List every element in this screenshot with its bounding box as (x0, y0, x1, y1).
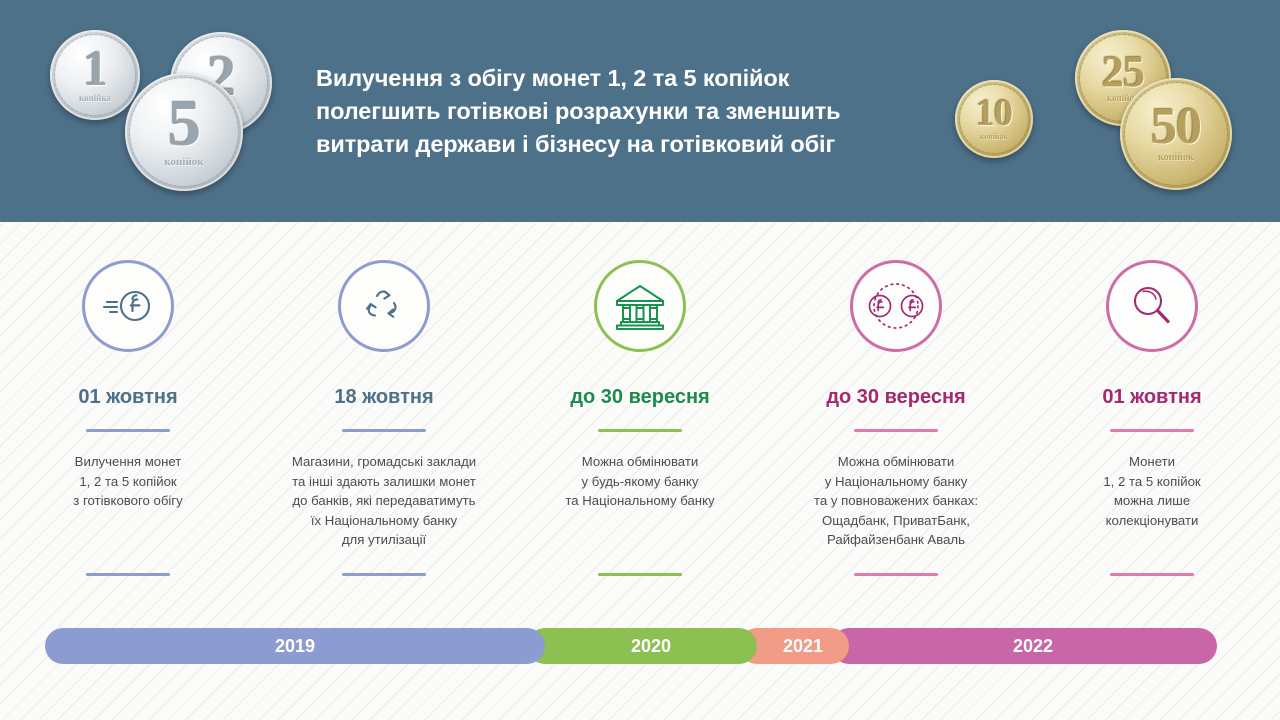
bank-icon (594, 260, 686, 352)
magnifier-icon (1106, 260, 1198, 352)
recycle-icon (338, 260, 430, 352)
timeline-segment-2019[interactable]: 2019 (45, 628, 545, 664)
coin-5-kopiyok: 5 копійок (125, 73, 243, 191)
timeline-year-label: 2021 (783, 636, 823, 657)
step-date: до 30 вересня (570, 386, 709, 409)
step-date: до 30 вересня (826, 386, 965, 409)
coin-rim (129, 77, 239, 187)
divider-bottom (342, 573, 426, 576)
step-text: Можна обмінювати у будь-якому банку та Н… (518, 452, 762, 511)
timeline-segment-2020[interactable]: 2020 (527, 628, 757, 664)
step-column-1: 01 жовтня Вилучення монет 1, 2 та 5 копі… (0, 260, 256, 550)
divider-top (598, 429, 682, 432)
step-text: Монети 1, 2 та 5 копійок можна лише коле… (1030, 452, 1274, 530)
step-text: Вилучення монет 1, 2 та 5 копійок з готі… (6, 452, 250, 511)
coin-10-kopiyok: 10 копійок (955, 80, 1033, 158)
divider-bottom (854, 573, 938, 576)
timeline-year-label: 2019 (275, 636, 315, 657)
step-date: 01 жовтня (1102, 386, 1201, 409)
divider-bottom (86, 573, 170, 576)
infographic-page: 1 копійка 2 копійки 5 копійок Вилучення … (0, 0, 1280, 720)
divider-top (854, 429, 938, 432)
timeline-year-label: 2020 (631, 636, 671, 657)
header-title-line-2: полегшить готівкові розрахунки та зменши… (316, 95, 916, 128)
divider-bottom (1110, 573, 1194, 576)
header-banner: 1 копійка 2 копійки 5 копійок Вилучення … (0, 0, 1280, 222)
coin-rim (54, 34, 136, 116)
coin-withdrawal-icon (82, 260, 174, 352)
coin-rim (959, 84, 1029, 154)
coin-50-kopiyok: 50 копійок (1120, 78, 1232, 190)
step-text: Можна обмінювати у Національному банку т… (774, 452, 1018, 550)
step-text: Магазини, громадські заклади та інші зда… (262, 452, 506, 550)
divider-top (1110, 429, 1194, 432)
step-column-2: 18 жовтня Магазини, громадські заклади т… (256, 260, 512, 550)
header-title-line-1: Вилучення з обігу монет 1, 2 та 5 копійо… (316, 62, 916, 95)
coin-rim (1124, 82, 1228, 186)
step-column-4: до 30 вересня Можна обмінювати у Націона… (768, 260, 1024, 550)
step-date: 18 жовтня (334, 386, 433, 409)
divider-bottom (598, 573, 682, 576)
coin-exchange-icon (850, 260, 942, 352)
timeline-bar: 2019 2020 2021 2022 (45, 628, 1235, 664)
step-column-5: 01 жовтня Монети 1, 2 та 5 копійок можна… (1024, 260, 1280, 550)
divider-top (342, 429, 426, 432)
timeline-year-label: 2022 (1013, 636, 1053, 657)
header-title: Вилучення з обігу монет 1, 2 та 5 копійо… (316, 62, 916, 161)
steps-row: 01 жовтня Вилучення монет 1, 2 та 5 копі… (0, 260, 1280, 550)
coin-1-kopiyka: 1 копійка (50, 30, 140, 120)
header-title-line-3: витрати держави і бізнесу на готівковий … (316, 128, 916, 161)
step-column-3: до 30 вересня Можна обмінювати у будь-як… (512, 260, 768, 550)
divider-top (86, 429, 170, 432)
timeline-segment-2022[interactable]: 2022 (831, 628, 1217, 664)
step-date: 01 жовтня (78, 386, 177, 409)
